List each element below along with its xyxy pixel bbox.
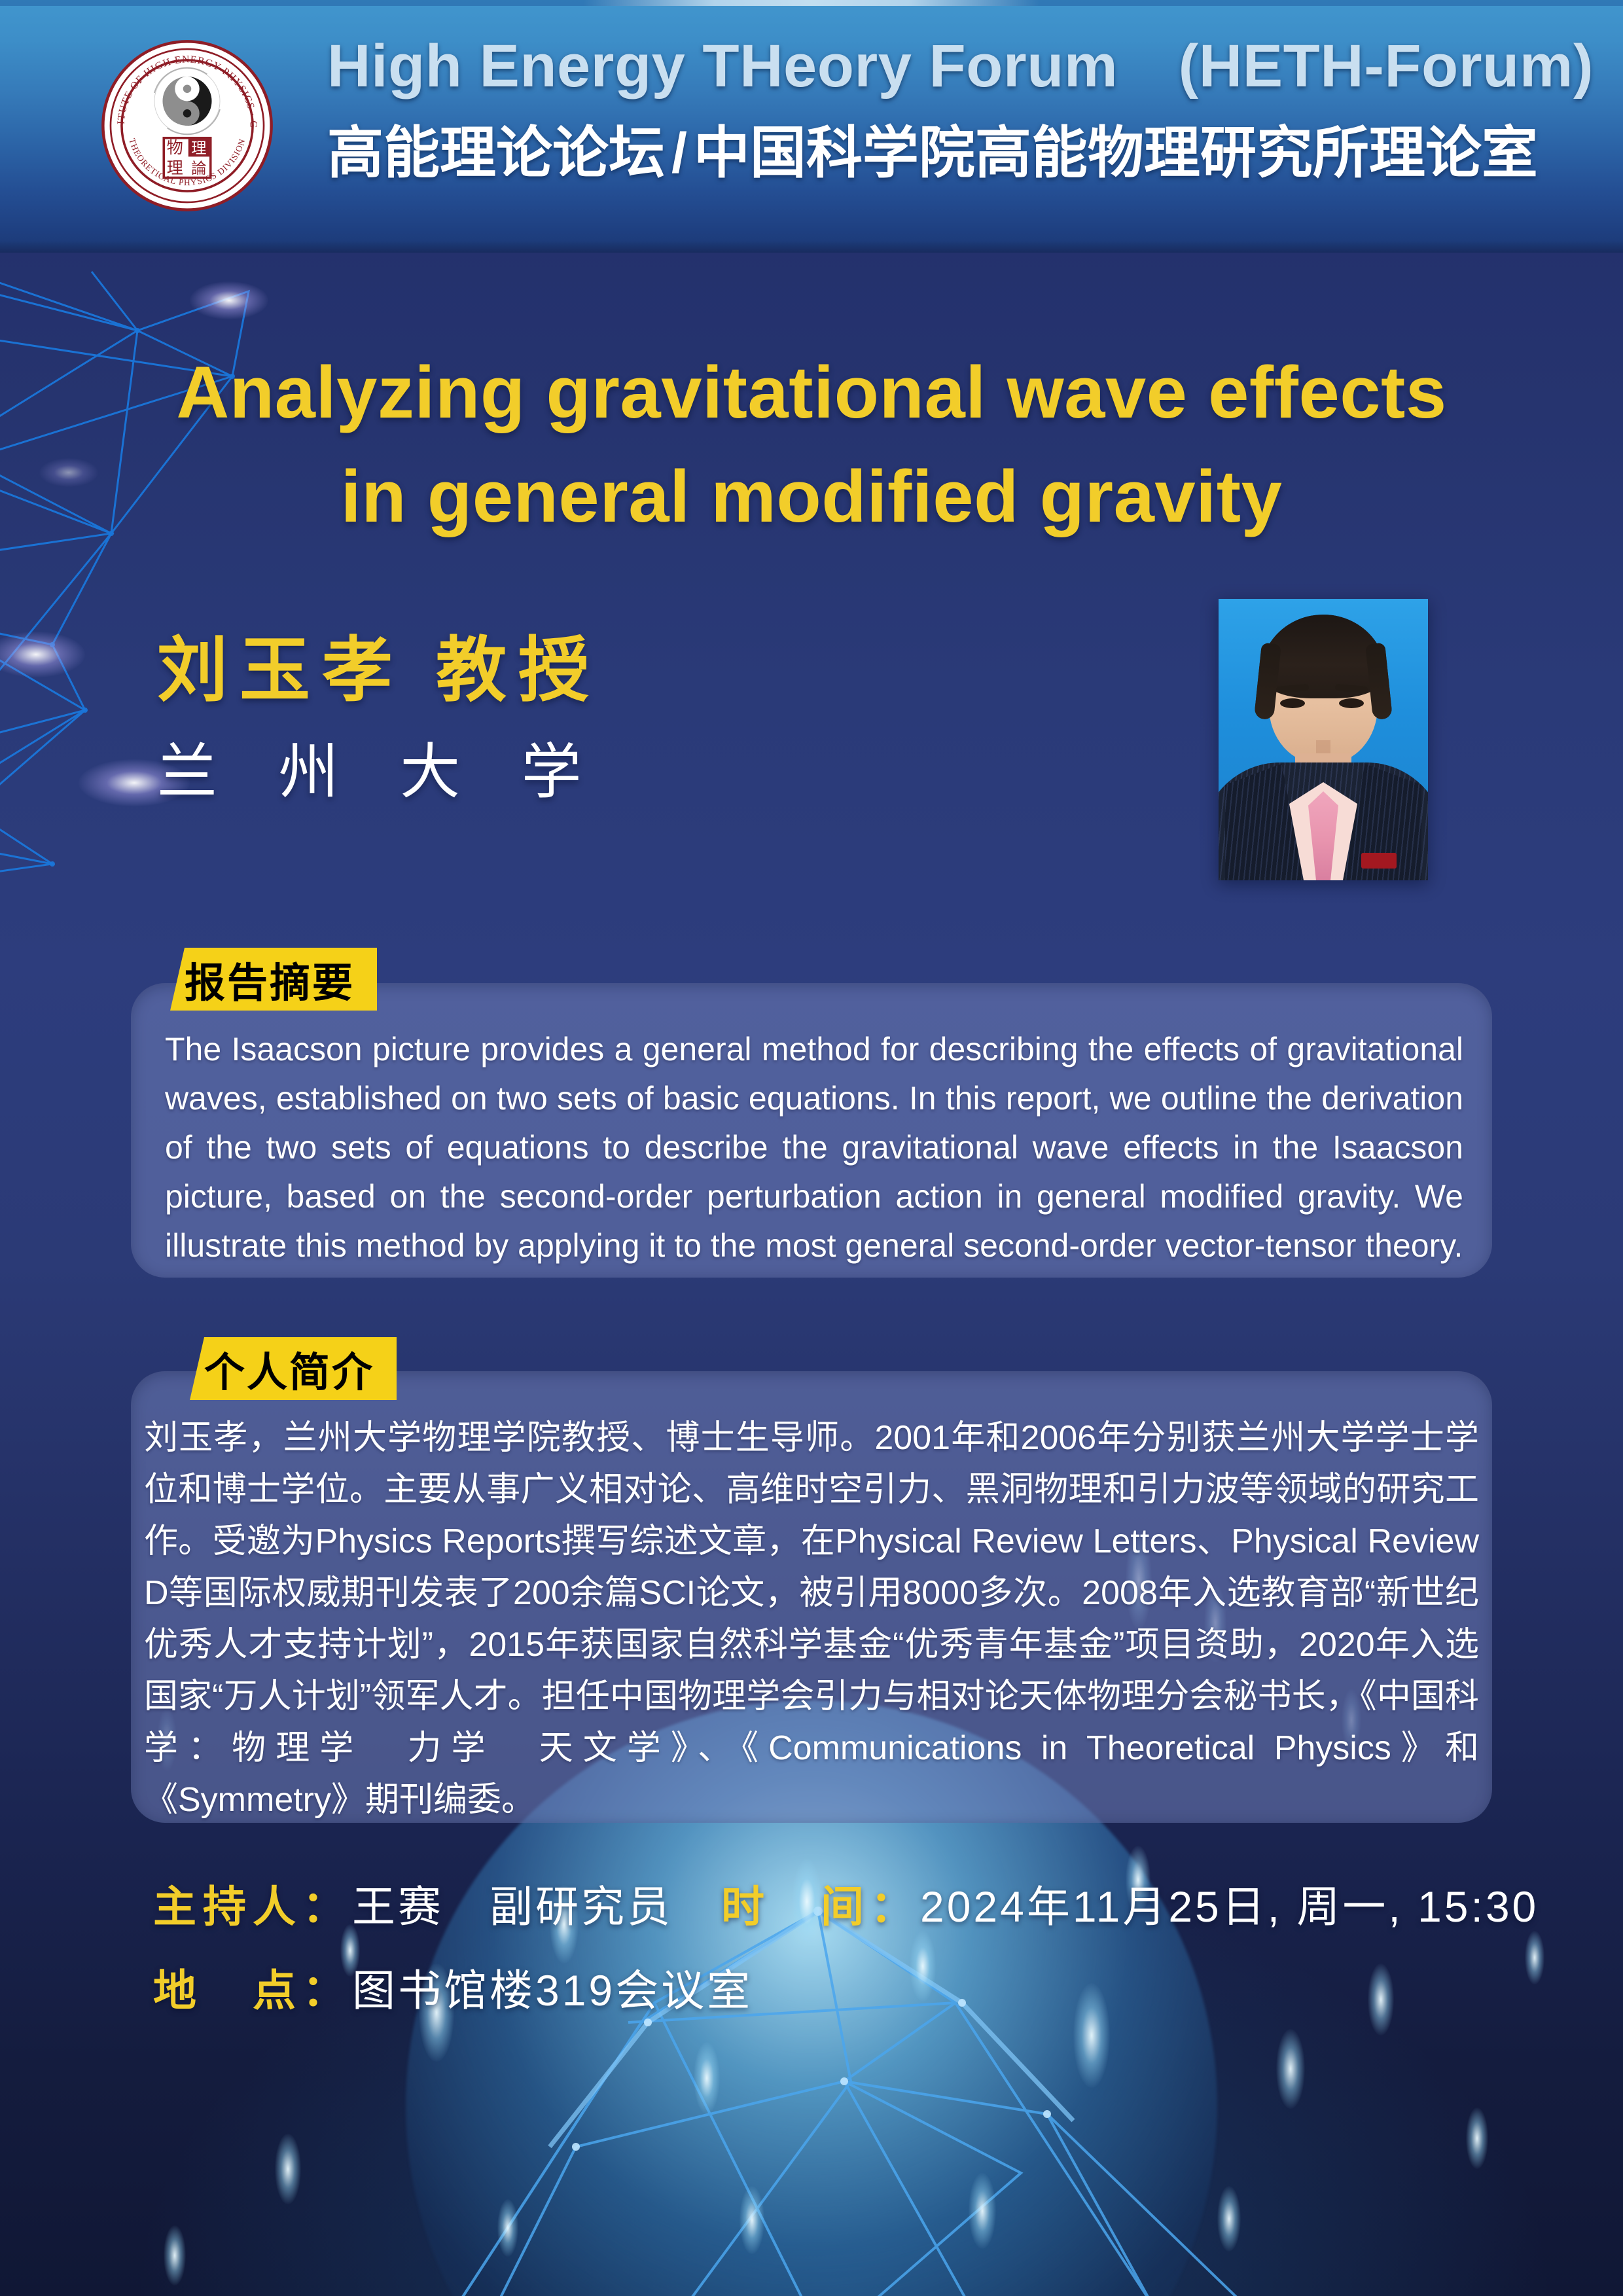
- glow-dot: [190, 281, 268, 319]
- speaker-affiliation: 兰 州 大 学: [157, 736, 1073, 808]
- forum-title-separator: /: [665, 122, 694, 185]
- talk-title: Analyzing gravitational wave effects in …: [0, 340, 1623, 548]
- forum-title-en: High Energy THeory Forum (HETH-Forum): [327, 29, 1571, 104]
- venue-value: 图书馆楼319会议室: [352, 1969, 753, 2012]
- talk-title-line-2: in general modified gravity: [0, 444, 1623, 548]
- portrait-lapel-badge: [1361, 853, 1397, 869]
- svg-text:理: 理: [191, 140, 206, 157]
- speaker-photo: [1219, 599, 1428, 880]
- svg-text:理: 理: [167, 160, 183, 177]
- bio-text: 刘玉孝，兰州大学物理学院教授、博士生导师。2001年和2006年分别获兰州大学学…: [144, 1412, 1479, 1826]
- talk-title-line-1: Analyzing gravitational wave effects: [0, 340, 1623, 444]
- portrait-eye-left: [1280, 698, 1305, 708]
- host-label: 主持人：: [153, 1885, 352, 1928]
- abstract-text: The Isaacson picture provides a general …: [165, 1025, 1463, 1270]
- host-value: 王赛 副研究员: [352, 1885, 673, 1928]
- venue-label: 地 点：: [153, 1969, 352, 2012]
- forum-title-cn-sub: 中国科学院高能物理研究所理论室: [694, 122, 1538, 185]
- svg-text:論: 論: [191, 160, 206, 177]
- speaker-name: 刘玉孝 教授: [157, 628, 1073, 711]
- speaker-block: 刘玉孝 教授 兰 州 大 学: [157, 628, 1073, 809]
- svg-text:物: 物: [167, 139, 183, 157]
- seminar-poster: INSTITUTE OF HIGH ENERGY PHYSICS · CAS ·…: [0, 0, 1623, 2296]
- host-and-time-row: 主持人： 王赛 副研究员 时 间： 2024年11月25日, 周一, 15:30: [153, 1885, 1593, 1928]
- ihep-logo-icon: INSTITUTE OF HIGH ENERGY PHYSICS · CAS ·…: [99, 27, 275, 224]
- forum-title-cn: 高能理论论坛/中国科学院高能物理研究所理论室: [327, 120, 1571, 187]
- time-label: 时 间：: [721, 1885, 920, 1928]
- bio-badge: 个人简介: [190, 1337, 397, 1400]
- time-value: 2024年11月25日, 周一, 15:30: [920, 1885, 1539, 1928]
- abstract-badge: 报告摘要: [170, 948, 377, 1011]
- event-details: 主持人： 王赛 副研究员 时 间： 2024年11月25日, 周一, 15:30…: [153, 1885, 1593, 2053]
- portrait-eye-right: [1339, 698, 1364, 708]
- venue-row: 地 点： 图书馆楼319会议室: [153, 1969, 1593, 2012]
- header-titles: High Energy THeory Forum (HETH-Forum) 高能…: [327, 29, 1571, 187]
- forum-title-cn-main: 高能理论论坛: [327, 122, 665, 185]
- poster-header: INSTITUTE OF HIGH ENERGY PHYSICS · CAS ·…: [0, 0, 1623, 253]
- header-top-accent-line: [0, 0, 1623, 6]
